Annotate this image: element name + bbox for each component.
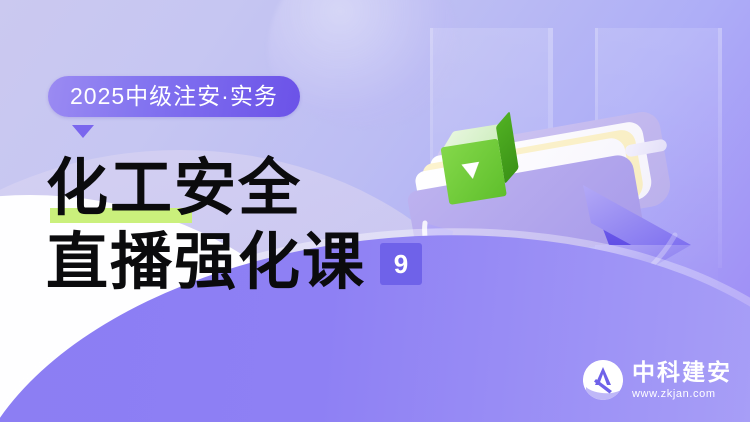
badge-pill-tail <box>72 125 94 138</box>
headline-line-1: 化工安全 <box>46 151 302 224</box>
brand-name: 中科建安 <box>632 361 732 384</box>
course-banner: 2025中级注安·实务 化工安全 直播强化课 9 中科建安 www.zkjan.… <box>0 0 750 422</box>
headline-line-2: 直播强化课 <box>46 226 366 298</box>
zkjan-monogram-icon <box>583 360 623 400</box>
episode-number-badge: 9 <box>380 243 422 285</box>
brand-text: 中科建安 www.zkjan.com <box>632 361 732 400</box>
headline-line-1-row: 化工安全 <box>46 152 476 224</box>
course-category-badge: 2025中级注安·实务 <box>48 76 300 117</box>
headline-line-2-row: 直播强化课 9 <box>46 226 476 298</box>
brand-url: www.zkjan.com <box>632 389 732 400</box>
brand-logo[interactable]: 中科建安 www.zkjan.com <box>583 360 732 400</box>
headline-block: 化工安全 直播强化课 9 <box>46 152 476 298</box>
